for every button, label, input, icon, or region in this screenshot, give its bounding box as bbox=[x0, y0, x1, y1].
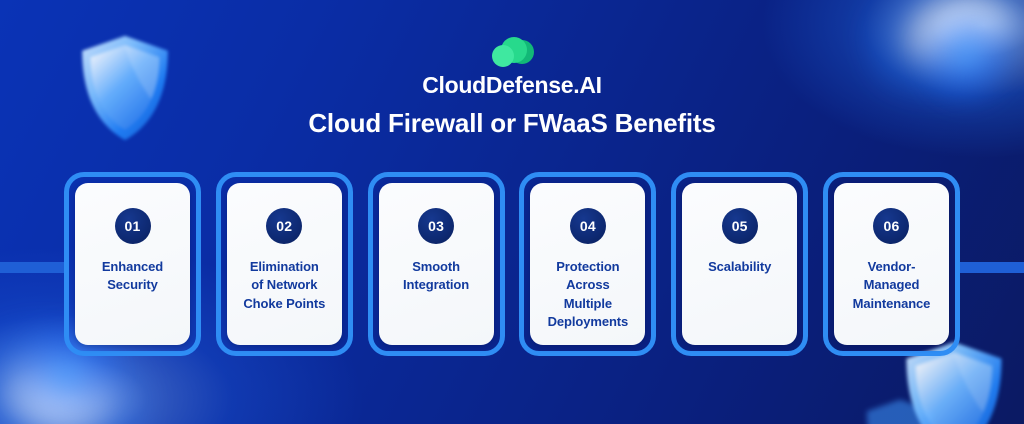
benefit-card-1[interactable]: 01 Enhanced Security bbox=[64, 172, 201, 356]
card-number-badge: 06 bbox=[873, 208, 909, 244]
benefit-card-4[interactable]: 04 Protection Across Multiple Deployment… bbox=[519, 172, 656, 356]
benefit-cards-row: 01 Enhanced Security 02 Elimination of N… bbox=[64, 172, 960, 356]
card-number-badge: 01 bbox=[115, 208, 151, 244]
connector-stub-right bbox=[960, 262, 1024, 273]
connector-stub-left bbox=[0, 262, 64, 273]
card-panel: 02 Elimination of Network Choke Points bbox=[227, 183, 342, 345]
card-panel: 03 Smooth Integration bbox=[379, 183, 494, 345]
shield-icon-bottom-right-small bbox=[864, 398, 936, 424]
card-number-badge: 02 bbox=[266, 208, 302, 244]
benefit-card-6[interactable]: 06 Vendor- Managed Maintenance bbox=[823, 172, 960, 356]
card-title: Vendor- Managed Maintenance bbox=[845, 258, 939, 313]
card-number-badge: 03 bbox=[418, 208, 454, 244]
card-title: Elimination of Network Choke Points bbox=[235, 258, 333, 313]
card-panel: 01 Enhanced Security bbox=[75, 183, 190, 345]
cloud-logo-icon bbox=[484, 36, 540, 70]
benefit-card-3[interactable]: 03 Smooth Integration bbox=[368, 172, 505, 356]
benefit-card-5[interactable]: 05 Scalability bbox=[671, 172, 808, 356]
benefit-card-2[interactable]: 02 Elimination of Network Choke Points bbox=[216, 172, 353, 356]
card-panel: 06 Vendor- Managed Maintenance bbox=[834, 183, 949, 345]
card-title: Smooth Integration bbox=[395, 258, 477, 295]
card-number-badge: 05 bbox=[722, 208, 758, 244]
page-title: Cloud Firewall or FWaaS Benefits bbox=[0, 108, 1024, 139]
card-title: Enhanced Security bbox=[94, 258, 171, 295]
brand-name: CloudDefense.AI bbox=[0, 74, 1024, 97]
infographic-canvas: CloudDefense.AI Cloud Firewall or FWaaS … bbox=[0, 0, 1024, 424]
brand-block: CloudDefense.AI bbox=[0, 36, 1024, 97]
card-panel: 05 Scalability bbox=[682, 183, 797, 345]
card-panel: 04 Protection Across Multiple Deployment… bbox=[530, 183, 645, 345]
card-title: Protection Across Multiple Deployments bbox=[540, 258, 637, 332]
card-number-badge: 04 bbox=[570, 208, 606, 244]
card-title: Scalability bbox=[700, 258, 779, 276]
